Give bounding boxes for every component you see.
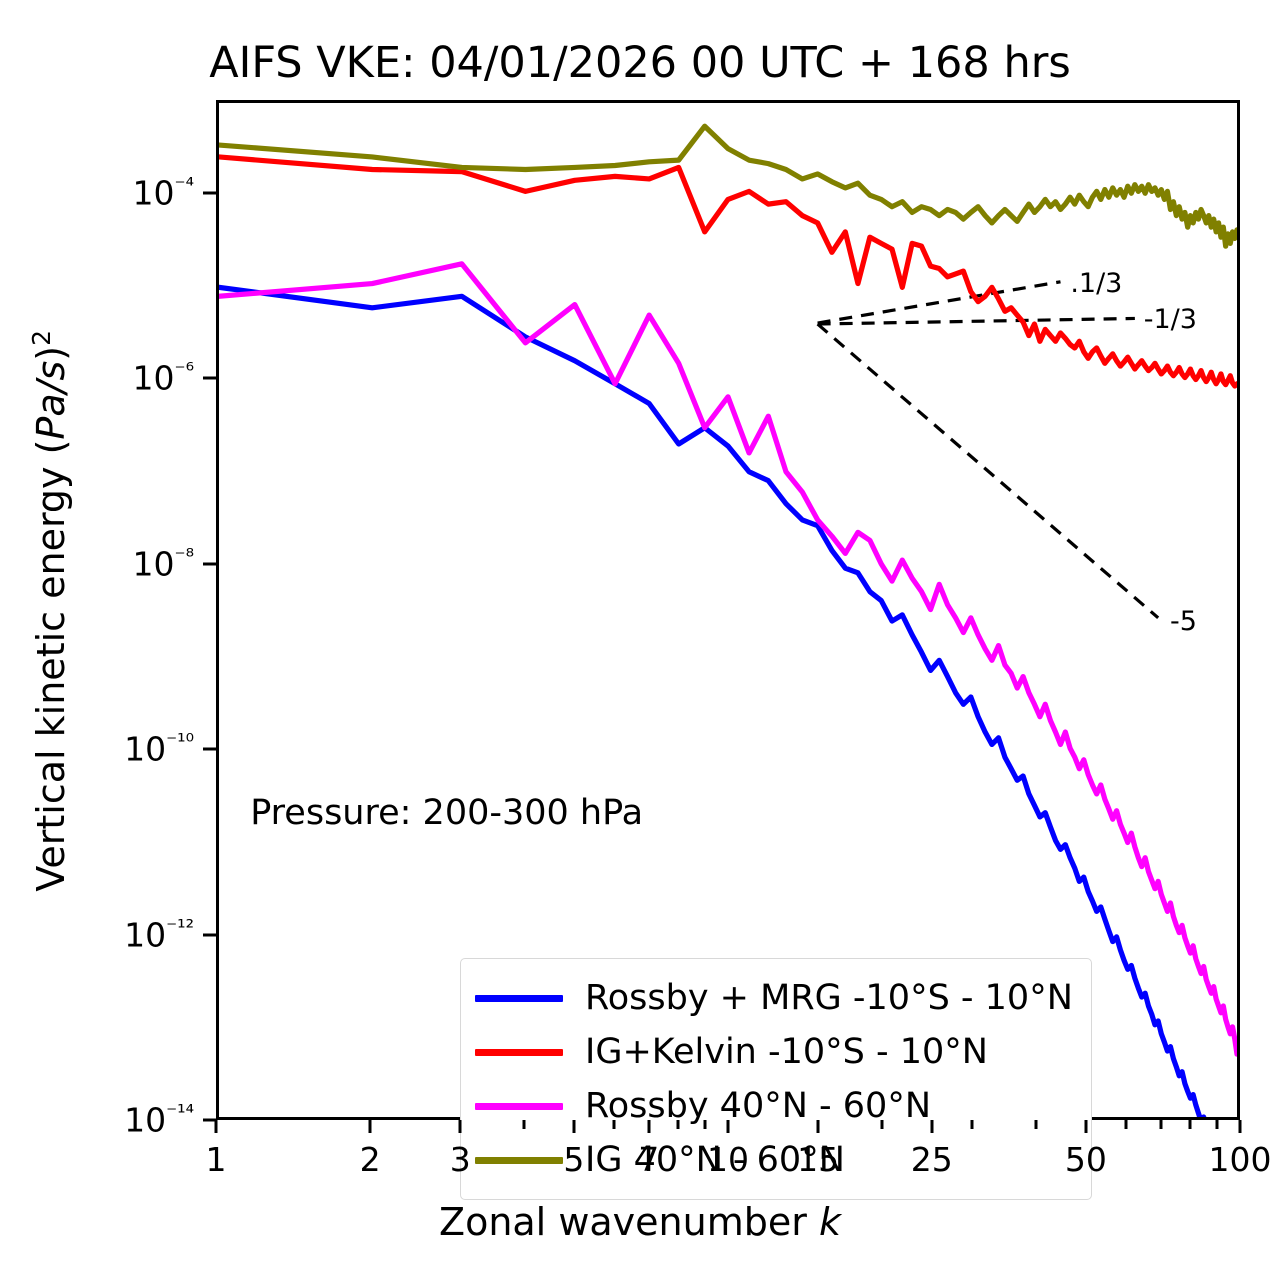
y-axis-ticks: 10⁻⁴10⁻⁶10⁻⁸10⁻¹⁰10⁻¹²10⁻¹⁴ xyxy=(0,100,216,1120)
x-tick-mark xyxy=(369,1120,372,1133)
reference-line-1-3 xyxy=(818,282,1061,323)
x-tick-mark-minor xyxy=(1125,1120,1128,1129)
y-tick-mark xyxy=(203,562,216,565)
x-tick-label: 10 xyxy=(707,1140,749,1179)
y-tick-mark xyxy=(203,377,216,380)
x-tick-mark-minor xyxy=(613,1120,616,1129)
x-tick-label: 5 xyxy=(563,1140,584,1179)
y-tick-label: 10⁻¹⁴ xyxy=(124,1101,194,1140)
y-tick-label: 10⁻¹⁰ xyxy=(124,730,194,769)
x-tick-mark xyxy=(930,1120,933,1133)
x-tick-mark xyxy=(727,1120,730,1133)
y-tick-label: 10⁻⁸ xyxy=(132,544,194,583)
x-tick-label: 50 xyxy=(1065,1140,1107,1179)
legend-color-swatch xyxy=(475,1049,563,1056)
slope-label-minus-third: -1/3 xyxy=(1144,304,1197,335)
x-tick-mark xyxy=(1239,1120,1242,1133)
x-tick-mark xyxy=(1084,1120,1087,1133)
legend-item-label: Rossby + MRG -10°S - 10°N xyxy=(585,981,1073,1016)
y-tick-mark xyxy=(203,748,216,751)
page-title: AIFS VKE: 04/01/2026 00 UTC + 168 hrs xyxy=(0,38,1280,88)
x-tick-mark xyxy=(572,1120,575,1133)
y-tick-mark xyxy=(203,933,216,936)
figure-canvas: AIFS VKE: 04/01/2026 00 UTC + 168 hrs Ve… xyxy=(0,0,1280,1288)
x-tick-mark-minor xyxy=(703,1120,706,1129)
x-tick-label: 2 xyxy=(360,1140,381,1179)
y-tick-label: 10⁻¹² xyxy=(124,915,194,954)
legend-item[interactable]: IG+Kelvin -10°S - 10°N xyxy=(475,1025,1073,1079)
x-tick-mark xyxy=(647,1120,650,1133)
x-tick-mark xyxy=(817,1120,820,1133)
plot-area: .1/3 -1/3 -5 Pressure: 200-300 hPa Rossb… xyxy=(216,100,1240,1120)
x-tick-mark xyxy=(215,1120,218,1133)
series-line-2 xyxy=(219,264,1237,1054)
x-tick-label: 1 xyxy=(206,1140,227,1179)
y-tick-mark xyxy=(203,191,216,194)
x-tick-mark-minor xyxy=(523,1120,526,1129)
x-tick-mark-minor xyxy=(1035,1120,1038,1129)
y-tick-label: 10⁻⁴ xyxy=(132,173,194,212)
y-tick-label: 10⁻⁶ xyxy=(132,359,194,398)
slope-label-minus-five: -5 xyxy=(1170,606,1197,637)
slope-label-plus-third: .1/3 xyxy=(1070,268,1122,299)
x-tick-mark-minor xyxy=(1159,1120,1162,1129)
x-tick-mark-minor xyxy=(677,1120,680,1129)
reference-line--1-3 xyxy=(818,318,1135,324)
x-tick-mark-minor xyxy=(1215,1120,1218,1129)
legend-color-swatch xyxy=(475,1103,563,1110)
legend-item[interactable]: Rossby + MRG -10°S - 10°N xyxy=(475,971,1073,1025)
series-line-3 xyxy=(219,126,1237,246)
x-tick-label: 15 xyxy=(797,1140,839,1179)
legend-color-swatch xyxy=(475,995,563,1002)
legend-item-label: IG+Kelvin -10°S - 10°N xyxy=(585,1035,988,1070)
x-tick-mark-minor xyxy=(1189,1120,1192,1129)
x-tick-label: 100 xyxy=(1209,1140,1272,1179)
x-tick-mark-minor xyxy=(971,1120,974,1129)
pressure-annotation: Pressure: 200-300 hPa xyxy=(250,793,643,833)
x-tick-mark-minor xyxy=(881,1120,884,1129)
x-tick-label: 25 xyxy=(911,1140,953,1179)
x-tick-label: 3 xyxy=(450,1140,471,1179)
x-axis-label: Zonal wavenumber k xyxy=(0,1200,1280,1244)
reference-line--5 xyxy=(818,324,1159,618)
x-tick-mark xyxy=(459,1120,462,1133)
x-tick-label: 7 xyxy=(638,1140,659,1179)
legend-item-label: Rossby 40°N - 60°N xyxy=(585,1089,931,1124)
